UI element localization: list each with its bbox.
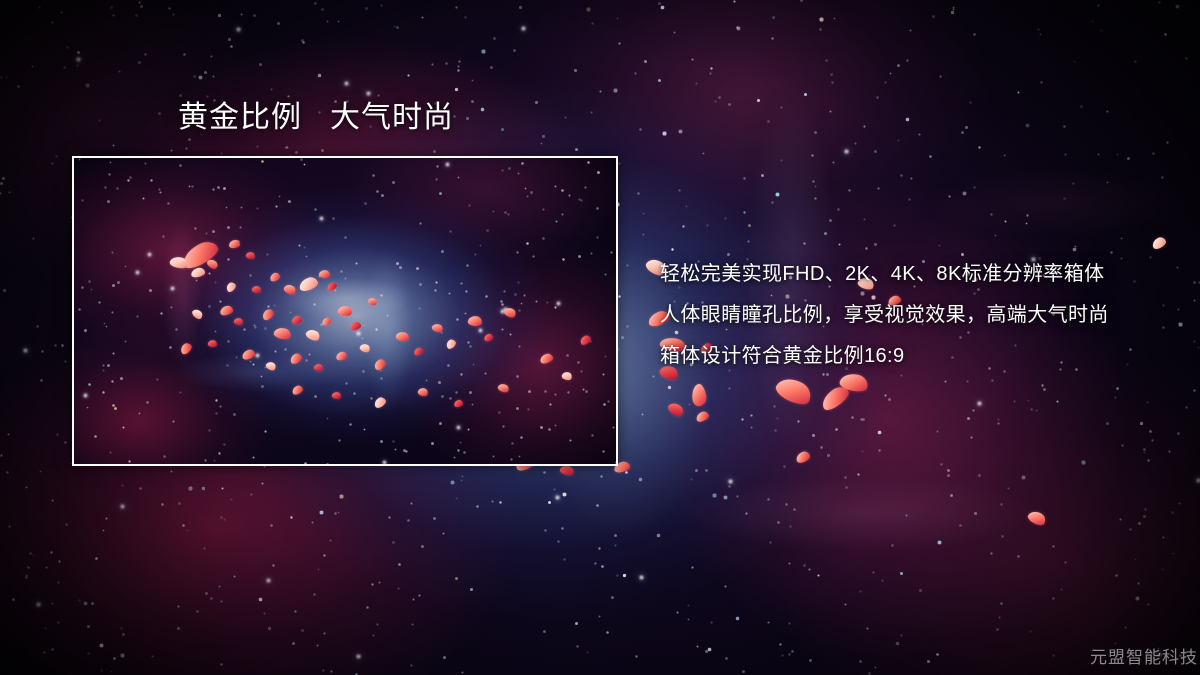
rose-petal <box>795 450 812 464</box>
rose-petal <box>773 373 815 409</box>
rose-petal <box>539 352 554 364</box>
rose-petal <box>337 305 353 318</box>
rose-petal <box>313 363 324 372</box>
rose-petal <box>291 384 304 396</box>
rose-petal <box>1026 508 1048 527</box>
rose-petal <box>431 322 444 334</box>
rose-petal <box>666 400 685 419</box>
rose-petal <box>206 257 220 270</box>
rose-petal <box>289 352 304 365</box>
rose-petal <box>561 370 573 381</box>
rose-petal <box>229 240 241 249</box>
rose-petal <box>233 317 244 327</box>
rose-petal <box>373 358 388 372</box>
picture-panel[interactable] <box>72 156 618 466</box>
rose-petal <box>367 296 378 306</box>
rose-petal <box>413 347 424 357</box>
rose-petal <box>261 307 276 321</box>
rose-petal <box>695 410 710 423</box>
rose-petal <box>269 272 281 283</box>
page-title: 黄金比例 大气时尚 <box>178 100 454 136</box>
rose-petal <box>445 338 458 350</box>
body-line-1: 轻松完美实现FHD、2K、4K、8K标准分辨率箱体 <box>660 254 1160 295</box>
rose-petal <box>818 383 852 413</box>
rose-petal <box>691 383 708 407</box>
rose-petal <box>273 326 292 341</box>
rose-petal <box>304 327 321 343</box>
rose-petal <box>179 341 194 356</box>
rose-petal <box>467 315 483 327</box>
rose-petal <box>359 342 372 354</box>
slide-canvas: 黄金比例 大气时尚 轻松完美实现FHD、2K、4K、8K标准分辨率箱体 人体眼睛… <box>0 0 1200 675</box>
body-line-2: 人体眼睛瞳孔比例，享受视觉效果，高端大气时尚 <box>660 295 1160 336</box>
watermark: 元盟智能科技 <box>1090 647 1198 669</box>
rose-petal <box>190 267 205 278</box>
rose-petal <box>283 283 298 297</box>
rose-petal <box>291 315 302 324</box>
rose-petal <box>251 285 262 294</box>
rose-petal <box>321 317 332 327</box>
body-text-block: 轻松完美实现FHD、2K、4K、8K标准分辨率箱体 人体眼睛瞳孔比例，享受视觉效… <box>660 254 1160 377</box>
rose-petal <box>265 360 278 372</box>
panel-rose-petals-layer <box>74 158 616 464</box>
rose-petal <box>395 331 410 343</box>
rose-petal <box>318 269 330 278</box>
rose-petal <box>225 281 238 294</box>
rose-petal <box>373 396 388 410</box>
rose-petal <box>579 334 592 346</box>
rose-petal <box>219 305 234 317</box>
rose-petal <box>241 348 256 361</box>
rose-petal <box>453 399 463 407</box>
rose-petal <box>349 321 362 331</box>
rose-petal <box>298 275 320 292</box>
rose-petal <box>326 281 338 292</box>
rose-petal <box>245 251 256 261</box>
rose-petal <box>483 333 493 342</box>
rose-petal <box>503 306 518 320</box>
body-line-3: 箱体设计符合黄金比例16:9 <box>660 336 1160 377</box>
rose-petal <box>335 351 347 361</box>
rose-petal <box>207 339 217 347</box>
rose-petal <box>497 382 510 394</box>
rose-petal <box>191 307 204 320</box>
rose-petal <box>331 391 342 400</box>
rose-petal <box>1151 235 1168 250</box>
rose-petal <box>417 387 429 398</box>
starfield-near <box>0 0 1 1</box>
